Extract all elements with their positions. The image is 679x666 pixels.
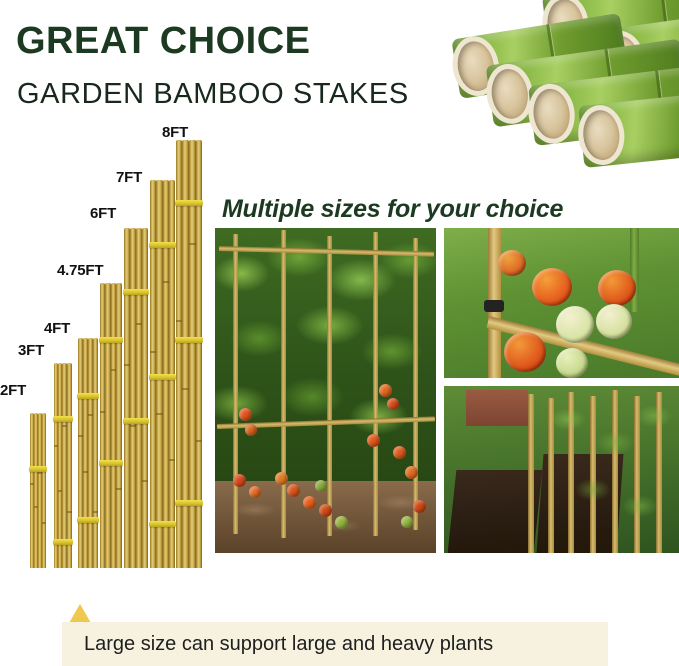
feature-banner: Large size can support large and heavy p… [62, 622, 608, 666]
bundle-band [123, 418, 149, 424]
tomato-fruit [367, 434, 380, 447]
tomato-closeup-photo [444, 228, 679, 378]
support-cane [528, 394, 534, 553]
bundle-band [149, 374, 176, 380]
tomato-fruit [556, 306, 594, 343]
tomato-fruit [413, 500, 426, 513]
tomato-fruit [596, 304, 632, 339]
bamboo-culms-photo [449, 0, 679, 185]
tomato-fruit [239, 408, 252, 421]
bundle-band [99, 460, 123, 466]
tomato-fruit [598, 270, 636, 306]
banner-pointer-icon [69, 604, 91, 623]
tomato-fruit [335, 516, 348, 529]
size-label-7ft: 7FT [116, 170, 142, 185]
tomato-fruit [556, 348, 588, 378]
tomato-fruit [379, 384, 392, 397]
bamboo-bore [525, 81, 578, 146]
tomato-fruit [303, 496, 316, 509]
stake-size-chart: 2FT 3FT 4FT [0, 118, 212, 568]
support-cane [233, 234, 238, 534]
infographic-canvas: GREAT CHOICE GARDEN BAMBOO STAKES [0, 0, 679, 666]
bundle-band [149, 242, 176, 248]
tomato-fruit [319, 504, 332, 517]
bundle-band [175, 337, 203, 343]
bundle-band [53, 416, 73, 422]
tomato-fruit [275, 472, 288, 485]
tomato-fruit [393, 446, 406, 459]
support-cane [373, 232, 378, 536]
stake-bundle-6ft [124, 228, 148, 568]
tomato-fruit [532, 268, 572, 306]
stake-bundle-7ft [150, 180, 175, 568]
foliage-layer [540, 386, 679, 553]
feature-banner-text: Large size can support large and heavy p… [84, 631, 493, 657]
size-label-6ft: 6FT [90, 206, 116, 221]
tomato-fruit [387, 398, 399, 410]
size-label-475ft: 4.75FT [57, 263, 103, 278]
photos-section-title: Multiple sizes for your choice [222, 197, 563, 222]
bundle-band [99, 337, 123, 343]
support-cane [413, 238, 418, 530]
tomato-fruit [498, 250, 526, 276]
support-cane [281, 230, 286, 538]
tomato-fruit [315, 480, 327, 492]
stake-bundle-4-75ft [100, 283, 122, 568]
support-cane [327, 236, 332, 536]
bundle-band [175, 500, 203, 506]
cane-clip-icon [484, 300, 504, 312]
size-label-3ft: 3FT [18, 343, 44, 358]
bundle-band [123, 289, 149, 295]
brick-wall [466, 390, 528, 426]
size-label-8ft: 8FT [162, 125, 188, 140]
bundle-band [149, 521, 176, 527]
stake-bundle-3ft [54, 363, 72, 568]
stake-bundle-4ft [78, 338, 98, 568]
size-label-4ft: 4FT [44, 321, 70, 336]
bundle-band [53, 539, 73, 545]
tomato-fruit [249, 486, 261, 498]
page-title: GREAT CHOICE [16, 22, 311, 60]
tomato-fruit [504, 332, 546, 372]
stake-bundle-8ft [176, 140, 202, 568]
tomato-fruit [401, 516, 413, 528]
tomato-garden-photo [215, 228, 436, 553]
tomato-fruit [233, 474, 246, 487]
tomato-fruit [405, 466, 418, 479]
bundle-band [77, 517, 99, 523]
bamboo-bore [575, 103, 627, 167]
page-subtitle: GARDEN BAMBOO STAKES [17, 80, 409, 109]
bundle-band [29, 466, 47, 472]
bundle-band [77, 393, 99, 399]
stake-bundle-2ft [30, 413, 46, 568]
vegetable-row-photo [444, 386, 679, 553]
tomato-fruit [287, 484, 300, 497]
tomato-fruit [245, 424, 257, 436]
size-label-2ft: 2FT [0, 383, 26, 398]
bundle-band [175, 200, 203, 206]
